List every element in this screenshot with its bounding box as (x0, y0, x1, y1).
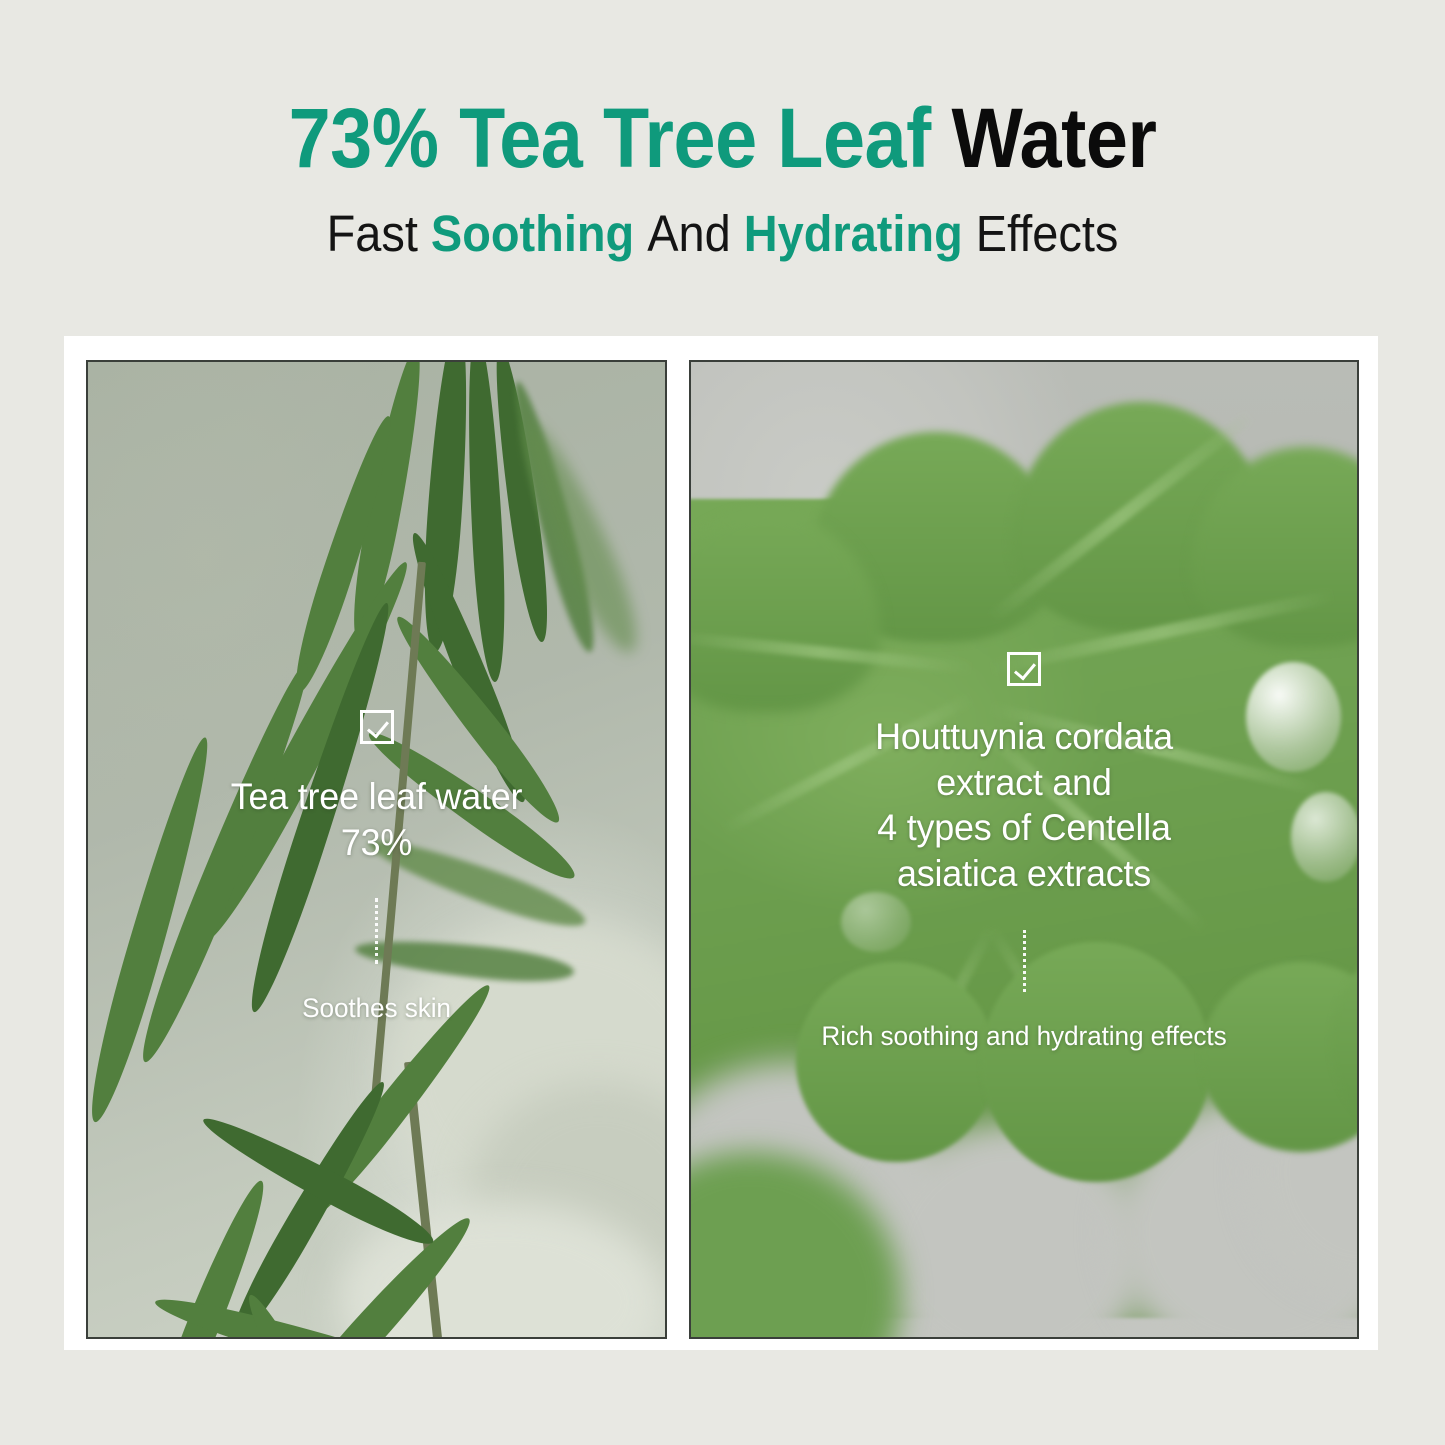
centella-title-line-2: extract and (701, 760, 1347, 806)
checkbox-checked-icon (1007, 652, 1041, 686)
centella-title: Houttuynia cordata extract and 4 types o… (701, 714, 1347, 896)
image-frame: Tea tree leaf water 73% Soothes skin (64, 336, 1378, 1350)
connector-dotted-line (375, 898, 378, 964)
subhead-word-hydrating: Hydrating (744, 205, 963, 262)
checkbox-checked-icon (360, 710, 394, 744)
centella-caption: Rich soothing and hydrating effects (701, 1020, 1347, 1052)
subhead-word-and: And (647, 205, 730, 262)
centella-title-line-3: 4 types of Centella (701, 805, 1347, 851)
headline-black-text: Water (951, 91, 1156, 185)
panel-row: Tea tree leaf water 73% Soothes skin (86, 360, 1359, 1339)
header-block: 73% Tea Tree Leaf Water Fast Soothing An… (0, 0, 1445, 330)
page-subheadline: Fast Soothing And Hydrating Effects (58, 180, 1387, 259)
centella-title-line-4: asiatica extracts (701, 851, 1347, 897)
subhead-word-fast: Fast (327, 205, 418, 262)
page-headline: 73% Tea Tree Leaf Water (72, 0, 1373, 180)
panel-centella: Houttuynia cordata extract and 4 types o… (689, 360, 1359, 1339)
tea-tree-photo: Tea tree leaf water 73% Soothes skin (88, 362, 665, 1337)
tea-tree-title-line-2: 73% (97, 820, 657, 866)
product-infographic: 73% Tea Tree Leaf Water Fast Soothing An… (0, 0, 1445, 1445)
tea-tree-title-line-1: Tea tree leaf water (97, 774, 657, 820)
subhead-word-effects: Effects (976, 205, 1119, 262)
centella-title-line-1: Houttuynia cordata (701, 714, 1347, 760)
centella-overlay: Houttuynia cordata extract and 4 types o… (691, 652, 1357, 1052)
subhead-word-soothing: Soothing (431, 205, 634, 262)
connector-dotted-line (1023, 930, 1026, 992)
tea-tree-caption: Soothes skin (97, 992, 657, 1024)
tea-tree-title: Tea tree leaf water 73% (97, 774, 657, 865)
tea-tree-overlay: Tea tree leaf water 73% Soothes skin (88, 710, 665, 1024)
headline-teal-text: 73% Tea Tree Leaf (289, 91, 931, 185)
centella-photo: Houttuynia cordata extract and 4 types o… (691, 362, 1357, 1337)
panel-tea-tree: Tea tree leaf water 73% Soothes skin (86, 360, 667, 1339)
